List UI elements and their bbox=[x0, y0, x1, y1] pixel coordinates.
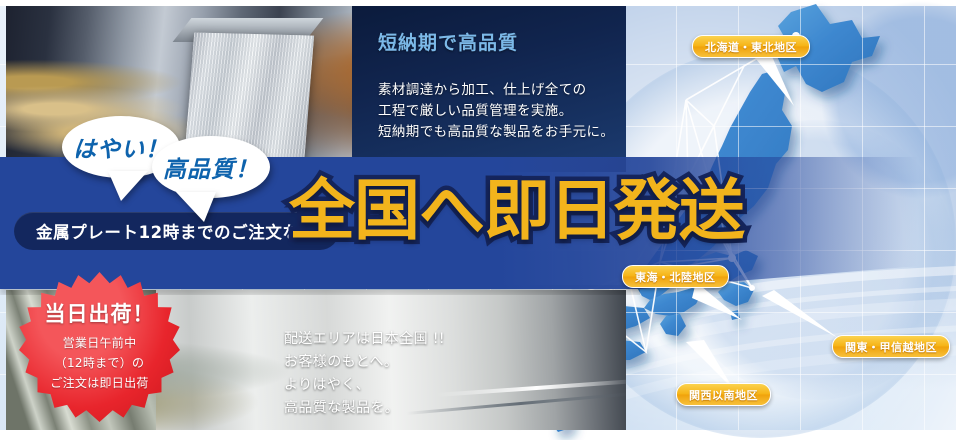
region-label-kanto-koshinetsu[interactable]: 関東・甲信越地区 bbox=[832, 335, 950, 358]
region-label-text: 東海・北陸地区 bbox=[635, 269, 716, 285]
burst-line: （12時まで）の bbox=[19, 354, 180, 371]
quality-info-panel: 短納期で高品質 素材調達から加工、仕上げ全ての 工程で厳しい品質管理を実施。 短… bbox=[352, 6, 626, 158]
region-label-text: 関東・甲信越地区 bbox=[845, 339, 937, 355]
main-headline: 全国へ即日発送 bbox=[289, 178, 744, 244]
sub-headline-text: 金属プレート12時までのご注文なら bbox=[36, 219, 317, 243]
info-panel-line: 短納期でも高品質な製品をお手元に。 bbox=[378, 120, 614, 140]
delivery-area-text: 配送エリアは日本全国 !! お客様のもとへ。 よりはやく、 高品質な製品を。 bbox=[284, 328, 445, 420]
speech-bubble-quality: 高品質！ bbox=[152, 136, 270, 198]
region-label-tokai-hokuriku[interactable]: 東海・北陸地区 bbox=[622, 265, 729, 288]
delivery-area-line: 高品質な製品を。 bbox=[284, 397, 445, 420]
delivery-area-line: お客様のもとへ。 bbox=[284, 351, 445, 374]
delivery-area-line: よりはやく、 bbox=[284, 374, 445, 397]
region-label-kansai-south[interactable]: 関西以南地区 bbox=[676, 383, 771, 406]
delivery-area-line: 配送エリアは日本全国 !! bbox=[284, 328, 445, 351]
burst-line: 営業日午前中 bbox=[19, 334, 180, 351]
info-panel-heading: 短納期で高品質 bbox=[378, 28, 518, 55]
burst-title: 当日出荷！ bbox=[19, 298, 180, 328]
burst-line: ご注文は即日出荷 bbox=[19, 374, 180, 391]
region-label-text: 北海道・東北地区 bbox=[705, 39, 797, 55]
region-label-hokkaido-tohoku[interactable]: 北海道・東北地区 bbox=[692, 35, 810, 58]
info-panel-line: 素材調達から加工、仕上げ全ての bbox=[378, 78, 587, 98]
speech-bubble-text: 高品質！ bbox=[163, 150, 259, 184]
info-panel-line: 工程で厳しい品質管理を実施。 bbox=[378, 99, 573, 119]
region-label-text: 関西以南地区 bbox=[689, 387, 758, 403]
promo-banner: 短納期で高品質 素材調達から加工、仕上げ全ての 工程で厳しい品質管理を実施。 短… bbox=[0, 0, 956, 440]
